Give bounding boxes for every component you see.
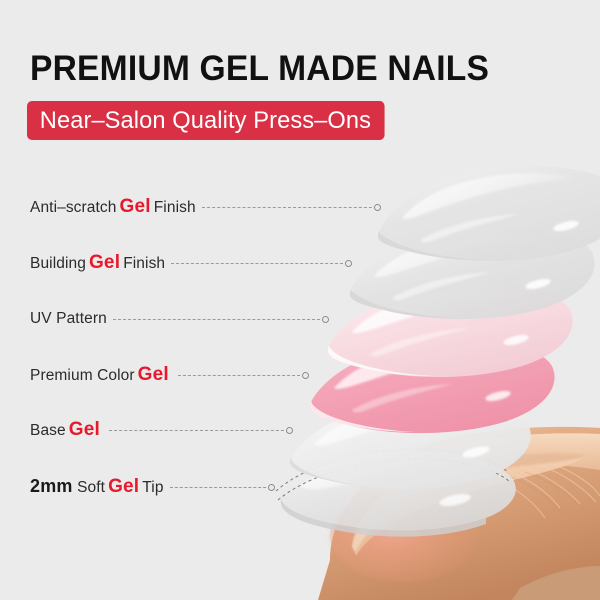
layer-label-text: 2mm SoftGelTip	[30, 475, 164, 499]
leader-endpoint-dot	[345, 260, 352, 267]
leader-line	[202, 207, 377, 208]
layer-label-uv-pattern: UV Pattern	[30, 308, 107, 330]
layer-label-text: Anti–scratchGelFinish	[30, 196, 196, 219]
layer-label-premium-color-gel: Premium ColorGel	[30, 364, 172, 386]
gel-emphasis: Gel	[66, 419, 103, 440]
layer-label-anti-scratch-gel-finish: Anti–scratchGelFinish	[30, 196, 196, 218]
leader-line	[109, 430, 289, 431]
infographic-canvas: PREMIUM GEL MADE NAILS Near–Salon Qualit…	[0, 0, 600, 600]
label-word: UV Pattern	[30, 310, 107, 327]
label-word: Building	[30, 255, 86, 272]
label-word: Anti–scratch	[30, 199, 117, 216]
leader-line	[178, 375, 305, 376]
gel-emphasis: Gel	[117, 196, 154, 217]
layer-label-text: UV Pattern	[30, 308, 107, 330]
subtitle-badge-label: Near–Salon Quality Press–Ons	[40, 101, 371, 140]
leader-endpoint-dot	[374, 204, 381, 211]
gel-emphasis: Gel	[86, 252, 123, 273]
thickness-emphasis: 2mm	[30, 476, 73, 496]
label-word: Tip	[142, 479, 163, 496]
layer-label-soft-gel-tip: 2mm SoftGelTip	[30, 476, 164, 498]
leader-line	[113, 319, 325, 320]
layer-label-text: Premium ColorGel	[30, 364, 172, 387]
leader-endpoint-dot	[322, 316, 329, 323]
layer-label-building-gel-finish: BuildingGelFinish	[30, 252, 165, 274]
page-title: PREMIUM GEL MADE NAILS	[30, 48, 489, 90]
gel-emphasis: Gel	[135, 364, 172, 385]
leader-line	[171, 263, 348, 264]
label-word: Premium Color	[30, 367, 135, 384]
leader-endpoint-dot	[268, 484, 275, 491]
label-word: Finish	[123, 255, 165, 272]
label-word: Finish	[154, 199, 196, 216]
subtitle-badge: Near–Salon Quality Press–Ons	[27, 101, 385, 140]
leader-endpoint-dot	[302, 372, 309, 379]
layer-label-base-gel: BaseGel	[30, 419, 103, 441]
leader-line	[170, 487, 271, 488]
leader-endpoint-dot	[286, 427, 293, 434]
label-word: Soft	[77, 479, 105, 496]
label-word: Base	[30, 422, 66, 439]
layer-label-text: BuildingGelFinish	[30, 252, 165, 275]
layer-label-text: BaseGel	[30, 419, 103, 442]
gel-emphasis: Gel	[105, 476, 142, 497]
